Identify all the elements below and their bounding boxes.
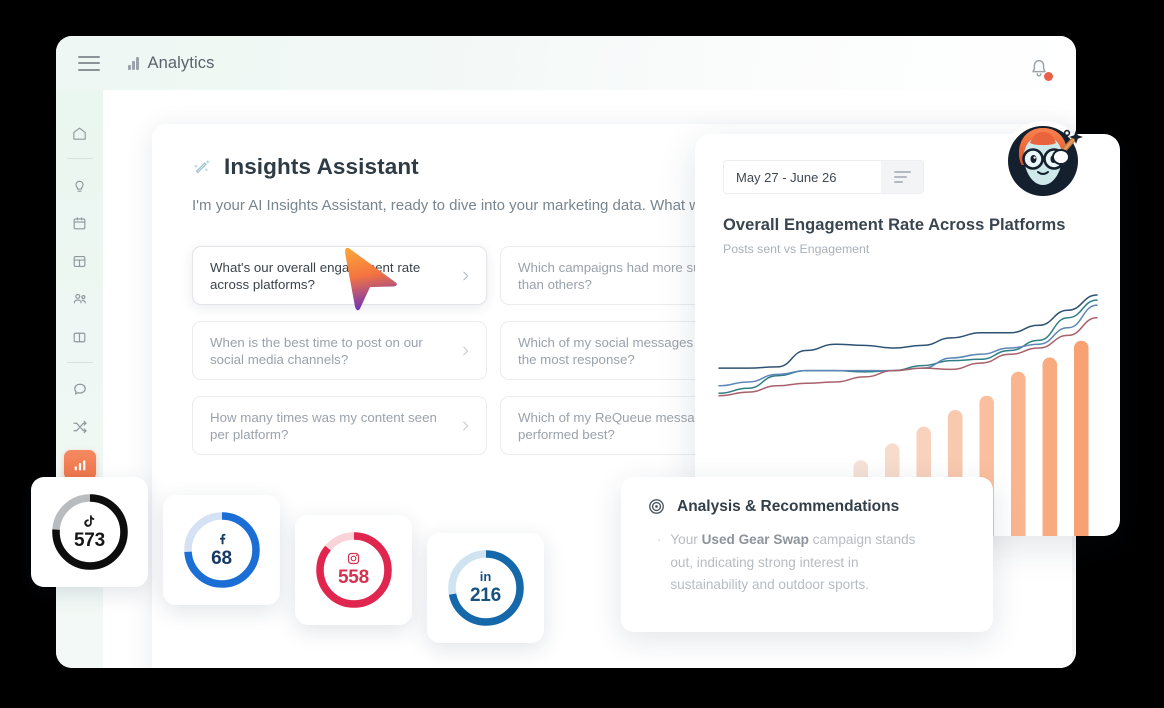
metric-value: 573 — [74, 530, 105, 552]
metric-value: 558 — [338, 567, 369, 589]
chart-bar — [1074, 341, 1089, 536]
analysis-header: Analysis & Recommendations — [647, 497, 967, 516]
metric-card-facebook[interactable]: 68 — [163, 495, 280, 605]
sidebar-item-layout[interactable] — [64, 246, 96, 276]
calendar-icon — [71, 215, 88, 232]
bullet-marker: · — [657, 529, 661, 597]
question-card-1[interactable]: What's our overall engagement rate acros… — [192, 246, 487, 305]
date-range-value[interactable]: May 27 - June 26 — [724, 161, 881, 193]
sidebar-divider-2 — [67, 362, 93, 363]
app-title-group: Analytics — [128, 54, 214, 73]
sidebar-item-columns[interactable] — [64, 322, 96, 352]
sidebar-item-calendar[interactable] — [64, 208, 96, 238]
screenshot-stage: Analytics — [0, 0, 1164, 708]
chevron-right-icon — [459, 419, 472, 432]
chart-line-engagement-c — [719, 305, 1097, 386]
notification-badge-dot — [1044, 72, 1053, 81]
layout-icon — [71, 253, 88, 270]
sidebar-divider — [67, 158, 93, 159]
notification-bell-button[interactable] — [1028, 57, 1050, 81]
home-icon — [71, 125, 88, 142]
question-label: How many times was my content seen per p… — [210, 409, 452, 443]
filter-button[interactable] — [881, 161, 923, 193]
donut-chart: 558 — [312, 528, 396, 612]
question-label: When is the best time to post on our soc… — [210, 334, 452, 368]
donut-chart: 68 — [180, 508, 264, 592]
analysis-recommendations-panel: Analysis & Recommendations · Your Used G… — [621, 477, 993, 632]
assistant-title: Insights Assistant — [224, 154, 419, 180]
chat-bubble-icon — [71, 380, 89, 398]
magic-wand-sparkle-icon — [192, 157, 213, 178]
hamburger-menu-icon[interactable] — [78, 56, 100, 71]
shuffle-icon — [71, 418, 89, 436]
question-label: What's our overall engagement rate acros… — [210, 259, 452, 293]
sidebar-item-analytics[interactable] — [64, 450, 96, 480]
page-title: Analytics — [148, 54, 215, 73]
question-card-5[interactable]: How many times was my content seen per p… — [192, 396, 487, 455]
donut-center: 68 — [180, 508, 264, 592]
chart-line-engagement-d — [719, 318, 1097, 396]
question-card-3[interactable]: When is the best time to post on our soc… — [192, 321, 487, 380]
metric-value: 216 — [470, 585, 501, 607]
date-range-picker[interactable]: May 27 - June 26 — [723, 160, 924, 194]
chevron-right-icon — [459, 344, 472, 357]
tiktok-icon — [82, 513, 97, 529]
lightbulb-icon — [71, 177, 88, 194]
donut-chart: in 216 — [444, 546, 528, 630]
donut-center: 573 — [48, 490, 132, 574]
chart-line-engagement-a — [719, 295, 1097, 368]
sidebar-item-shuffle[interactable] — [64, 412, 96, 442]
top-bar: Analytics — [56, 36, 1076, 90]
donut-chart: 573 — [48, 490, 132, 574]
target-icon — [647, 497, 666, 516]
filter-lines-icon — [894, 171, 911, 183]
chart-bar — [1011, 372, 1026, 536]
chart-bar — [1043, 358, 1058, 537]
chart-subtitle: Posts sent vs Engagement — [723, 242, 1120, 256]
analysis-text: Your Used Gear Swap campaign stands out,… — [670, 529, 938, 597]
analysis-text-highlight: Used Gear Swap — [702, 532, 809, 547]
columns-icon — [71, 329, 88, 346]
linkedin-icon: in — [480, 569, 492, 584]
sidebar-item-conversations[interactable] — [64, 374, 96, 404]
metric-card-linkedin[interactable]: in 216 — [427, 533, 544, 643]
metric-card-tiktok[interactable]: 573 — [31, 477, 148, 587]
analysis-title: Analysis & Recommendations — [677, 498, 899, 516]
metric-card-instagram[interactable]: 558 — [295, 515, 412, 625]
sidebar-item-people[interactable] — [64, 284, 96, 314]
sidebar-item-home[interactable] — [64, 118, 96, 148]
chart-title: Overall Engagement Rate Across Platforms — [723, 216, 1120, 235]
sidebar-item-ideas[interactable] — [64, 170, 96, 200]
chevron-right-icon — [459, 269, 472, 282]
analysis-text-prefix: Your — [670, 532, 701, 547]
donut-center: in 216 — [444, 546, 528, 630]
assistant-avatar — [1000, 118, 1086, 204]
people-icon — [71, 290, 89, 308]
facebook-icon — [215, 531, 229, 547]
metric-value: 68 — [211, 548, 232, 570]
instagram-icon — [346, 551, 361, 566]
mascot-icon — [1000, 118, 1086, 204]
bar-chart-icon — [72, 457, 88, 473]
donut-center: 558 — [312, 528, 396, 612]
analysis-bullet-item: · Your Used Gear Swap campaign stands ou… — [657, 529, 967, 597]
bar-chart-icon — [128, 57, 139, 70]
